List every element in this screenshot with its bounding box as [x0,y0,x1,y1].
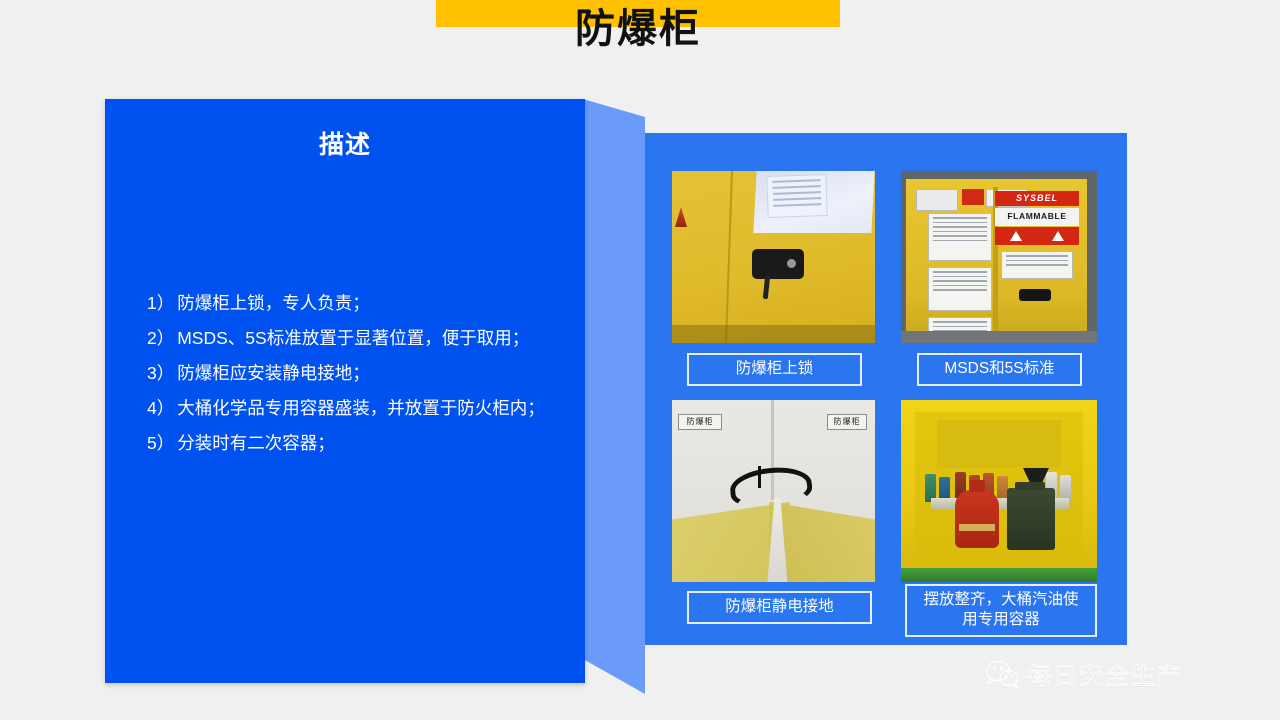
cabinet-key-icon [763,275,770,299]
photo-cell-msds-cabinet: SYSBEL FLAMMABLE KEEP FIRE AWAY [901,171,1097,343]
cabinet-interior [915,412,1083,566]
msds-sheet [928,267,992,311]
green-jerry-can [1007,488,1055,550]
description-list: 1）防爆柜上锁，专人负责； 2）MSDS、5S标准放置于显著位置，便于取用； 3… [147,287,547,462]
hazard-label-icon [675,207,687,227]
list-item-number: 4） [147,398,174,418]
list-item-number: 2） [147,328,174,348]
page-title: 防爆柜 [436,2,840,56]
grounding-wire-stem [758,466,761,488]
list-item-number: 5） [147,433,174,453]
sysbel-brand-label: SYSBEL [995,191,1079,206]
list-item-text: 防爆柜上锁，专人负责； [177,293,370,313]
slide-root: 防爆柜 描述 1）防爆柜上锁，专人负责； 2）MSDS、5S标准放置于显著位置，… [0,0,1280,720]
warning-triangle-icon [1052,231,1064,241]
description-panel-face: 描述 1）防爆柜上锁，专人负责； 2）MSDS、5S标准放置于显著位置，便于取用… [105,99,585,683]
photo-caption-locked-cabinet: 防爆柜上锁 [687,353,862,386]
red-safety-can [955,490,999,548]
list-item-number: 3） [147,363,174,383]
cabinet-base-strip [901,568,1097,582]
msds-sheet [928,213,992,261]
list-item: 1）防爆柜上锁，专人负责； [147,287,547,320]
msds-sheet [1001,251,1073,279]
photo-grid: SYSBEL FLAMMABLE KEEP FIRE AWAY [645,133,1127,645]
photo-panel: SYSBEL FLAMMABLE KEEP FIRE AWAY [645,133,1127,645]
list-item-text: MSDS、5S标准放置于显著位置，便于取用； [177,328,529,348]
wechat-icon [985,660,1019,688]
photo-caption-msds-cabinet: MSDS和5S标准 [917,353,1082,386]
cabinet-back-panel [937,420,1061,468]
photo-image-msds-cabinet: SYSBEL FLAMMABLE KEEP FIRE AWAY [901,171,1097,343]
cabinet-lock-icon [752,249,804,279]
photo-image-static-grounding: 防爆柜 防爆柜 [672,400,875,582]
description-heading: 描述 [105,125,585,161]
cabinet-body: SYSBEL FLAMMABLE KEEP FIRE AWAY [906,179,1087,343]
photo-caption-tidy-storage: 摆放整齐，大桶汽油使用专用容器 [905,584,1097,637]
warning-triangle-icon [1010,231,1022,241]
watermark-text: 每日安全生产 [1027,656,1183,691]
list-item: 2）MSDS、5S标准放置于显著位置，便于取用； [147,322,547,355]
photo-image-tidy-storage [901,400,1097,582]
red-small-label [962,189,984,205]
posted-photo [916,189,958,211]
list-item: 4）大桶化学品专用容器盛装，并放置于防火柜内； [147,392,547,425]
list-item-number: 1） [147,293,174,313]
description-panel-3d-side [583,99,645,694]
list-item-text: 防爆柜应安装静电接地； [177,363,370,383]
door-seam [725,171,733,343]
flammable-label: FLAMMABLE KEEP FIRE AWAY [995,208,1079,226]
list-item: 5）分装时有二次容器； [147,427,547,460]
photo-cell-tidy-storage [901,400,1097,582]
flammable-label-text: FLAMMABLE [1007,211,1066,221]
list-item-text: 大桶化学品专用容器盛装，并放置于防火柜内； [177,398,545,418]
photo-image-locked-cabinet [672,171,875,343]
list-item-text: 分装时有二次容器； [177,433,335,453]
cabinet-sign: 防爆柜 [827,414,867,430]
grounding-wire-icon [728,464,814,510]
watermark: 每日安全生产 [985,656,1183,691]
photo-cell-static-grounding: 防爆柜 防爆柜 [672,400,875,582]
cabinet-handle-icon [1019,289,1051,301]
floor-shade [901,331,1097,343]
photo-bottom-shade [672,325,875,343]
photo-cell-locked-cabinet [672,171,875,343]
posted-paper [766,174,827,218]
hazard-symbol-bar [995,227,1079,245]
list-item: 3）防爆柜应安装静电接地； [147,357,547,390]
photo-caption-static-grounding: 防爆柜静电接地 [687,591,872,624]
description-panel: 描述 1）防爆柜上锁，专人负责； 2）MSDS、5S标准放置于显著位置，便于取用… [105,99,645,694]
cabinet-sign: 防爆柜 [678,414,722,430]
